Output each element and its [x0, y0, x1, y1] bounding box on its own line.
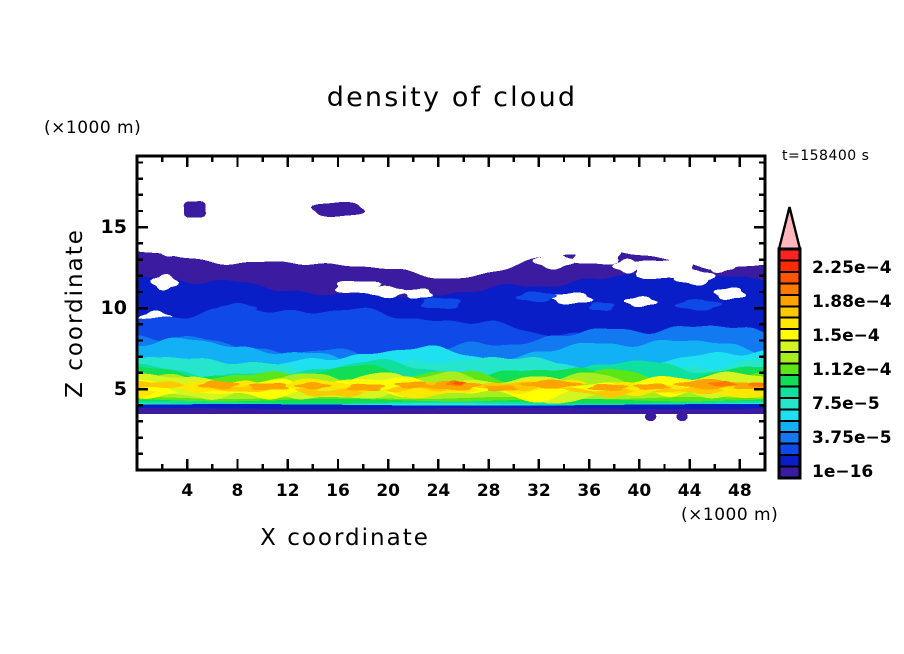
colorbar-tick-label-1: 1.88e−4 — [812, 292, 892, 312]
x-tick-label-12: 12 — [276, 481, 300, 501]
colorbar-band-10 — [779, 364, 800, 376]
colorbar-tick-label-3: 1.12e−4 — [812, 360, 892, 380]
colorbar-bands — [779, 207, 800, 479]
colorbar-band-0 — [779, 249, 800, 261]
colorbar-extend-arrow — [779, 207, 800, 249]
colorbar-band-7 — [779, 329, 800, 341]
colorbar-band-4 — [779, 295, 800, 307]
colorbar-band-13 — [779, 398, 800, 410]
colorbar-band-3 — [779, 283, 800, 295]
colorbar-tick-label-0: 2.25e−4 — [812, 258, 892, 278]
x-tick-label-28: 28 — [477, 481, 501, 501]
x-tick-label-48: 48 — [728, 481, 752, 501]
colorbar-tick-label-2: 1.5e−4 — [812, 326, 880, 346]
colorbar-tick-label-5: 3.75e−5 — [812, 428, 892, 448]
colorbar-band-6 — [779, 318, 800, 330]
colorbar-band-11 — [779, 375, 800, 387]
x-tick-label-20: 20 — [376, 481, 400, 501]
colorbar-band-17 — [779, 444, 800, 456]
colorbar-tick-label-6: 1e−16 — [812, 462, 873, 482]
colorbar-band-9 — [779, 352, 800, 364]
y-tick-label-15: 15 — [75, 216, 127, 238]
colorbar-band-12 — [779, 386, 800, 398]
colorbar-band-15 — [779, 421, 800, 433]
x-tick-label-4: 4 — [181, 481, 193, 501]
colorbar-band-8 — [779, 341, 800, 353]
colorbar-band-18 — [779, 455, 800, 467]
colorbar-band-1 — [779, 260, 800, 272]
x-tick-label-32: 32 — [527, 481, 551, 501]
x-tick-label-36: 36 — [577, 481, 601, 501]
colorbar-band-14 — [779, 409, 800, 421]
x-tick-label-16: 16 — [326, 481, 350, 501]
x-tick-label-44: 44 — [678, 481, 702, 501]
colorbar-band-2 — [779, 272, 800, 284]
colorbar-band-5 — [779, 306, 800, 318]
colorbar-band-16 — [779, 432, 800, 444]
x-tick-label-24: 24 — [427, 481, 451, 501]
colorbar — [0, 0, 904, 654]
y-tick-label-5: 5 — [75, 378, 127, 400]
x-tick-label-40: 40 — [628, 481, 652, 501]
colorbar-tick-label-4: 7.5e−5 — [812, 394, 880, 414]
figure-canvas: density of cloud (×1000 m) (×1000 m) X c… — [0, 0, 904, 654]
x-tick-label-8: 8 — [232, 481, 244, 501]
y-tick-label-10: 10 — [75, 297, 127, 319]
